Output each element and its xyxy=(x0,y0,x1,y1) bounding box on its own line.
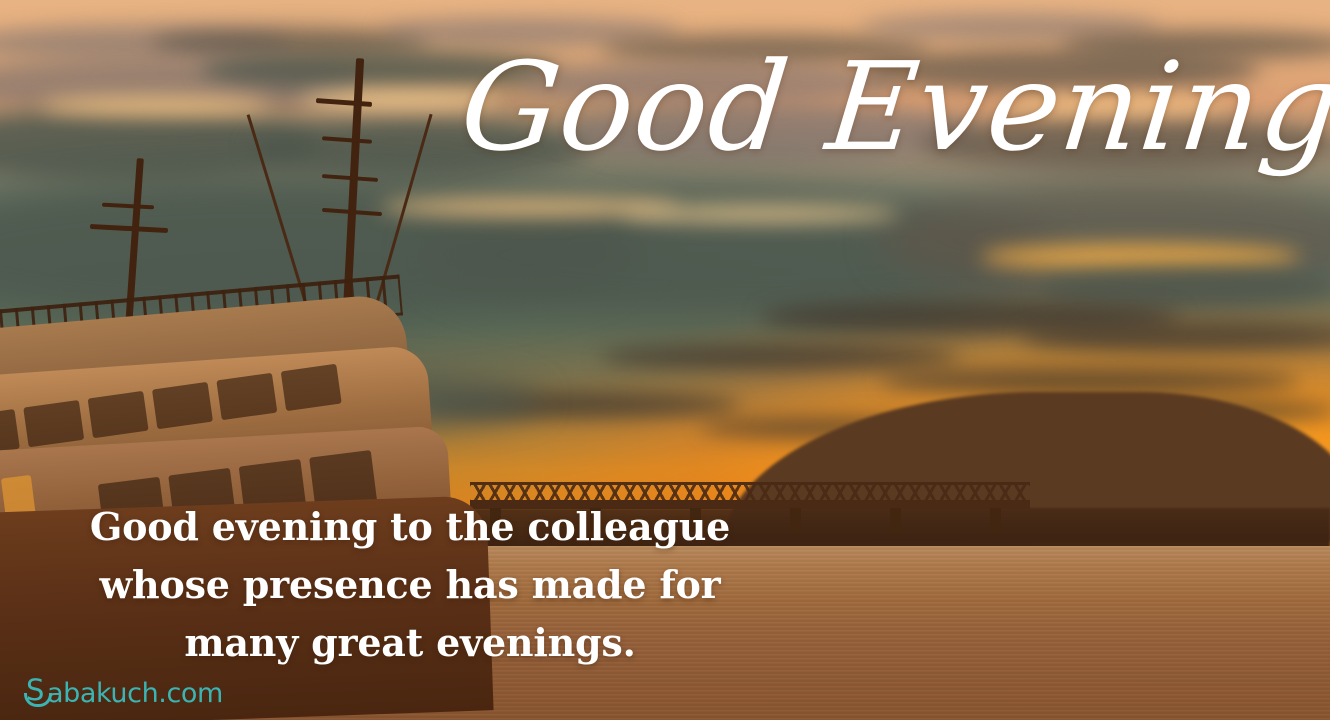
page-title: Good Evening xyxy=(456,46,1330,168)
sabakuch-logo-icon: S xyxy=(26,678,46,708)
quote-text: Good evening to the colleague whose pres… xyxy=(10,498,810,672)
watermark-sabakuch[interactable]: S abakuch.com xyxy=(26,678,223,708)
quote-line-1: Good evening to the colleague xyxy=(10,498,810,556)
greeting-card: Good Evening Good evening to the colleag… xyxy=(0,0,1330,720)
quote-line-2: whose presence has made for xyxy=(10,556,810,614)
watermark-text: abakuch.com xyxy=(47,680,223,707)
quote-line-3: many great evenings. xyxy=(10,614,810,672)
